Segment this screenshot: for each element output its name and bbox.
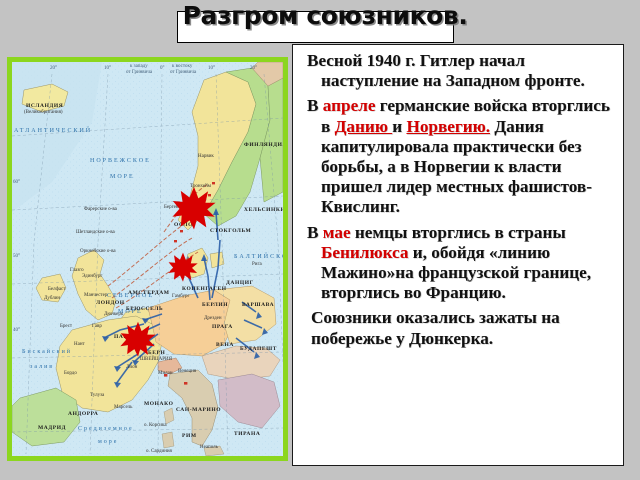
map-canvas: НОРВЕЖСКОЕ МОРЕ СЕВЕРНОЕ МОРЕ Бискайский…	[12, 62, 283, 456]
map-graphic	[12, 62, 283, 456]
body-text-run: и	[392, 117, 406, 136]
map-frame: НОРВЕЖСКОЕ МОРЕ СЕВЕРНОЕ МОРЕ Бискайский…	[7, 57, 288, 461]
lesson-paragraph-1: Весной 1940 г. Гитлер начал наступление …	[299, 51, 615, 91]
body-text-run: Союзники оказались зажаты на побережье у…	[311, 308, 560, 347]
map-grid-label: 40°	[13, 328, 20, 333]
map-grid-label: 20°	[250, 66, 257, 71]
map-grid-label: 50°	[13, 254, 20, 259]
map-grid-label: к востоку	[172, 64, 192, 69]
map-grid-label: 10°	[104, 66, 111, 71]
map-grid-label: от Гринвича	[170, 70, 196, 75]
lesson-paragraph-2: В апреле германские войска вторглись в Д…	[299, 96, 615, 217]
highlight-term-underlined: Данию	[335, 117, 393, 136]
page-title: Разгром союзников.	[180, 2, 470, 30]
map-grid-label: 20°	[50, 66, 57, 71]
highlight-term: Бенилюкса	[321, 243, 408, 262]
map-grid-label: 60°	[13, 180, 20, 185]
body-text-run: В	[307, 223, 323, 242]
lesson-paragraph-4: Союзники оказались зажаты на побережье у…	[299, 308, 615, 348]
highlight-term: мае	[323, 223, 351, 242]
body-text-run: В	[307, 96, 323, 115]
highlight-term: апреле	[323, 96, 376, 115]
map-grid-label: 0°	[160, 66, 165, 71]
body-text-run: немцы вторглись в страны	[351, 223, 566, 242]
body-text-run: Весной 1940 г. Гитлер начал наступление …	[307, 51, 585, 90]
map-grid-label: 10°	[208, 66, 215, 71]
map-grid-label: к западу	[130, 64, 148, 69]
lesson-paragraph-3: В мае немцы вторглись в страны Бенилюкса…	[299, 223, 615, 304]
highlight-term-underlined: Норвегию.	[406, 117, 490, 136]
map-grid-label: от Гринвича	[126, 70, 152, 75]
lesson-text-panel: Весной 1940 г. Гитлер начал наступление …	[292, 44, 624, 466]
